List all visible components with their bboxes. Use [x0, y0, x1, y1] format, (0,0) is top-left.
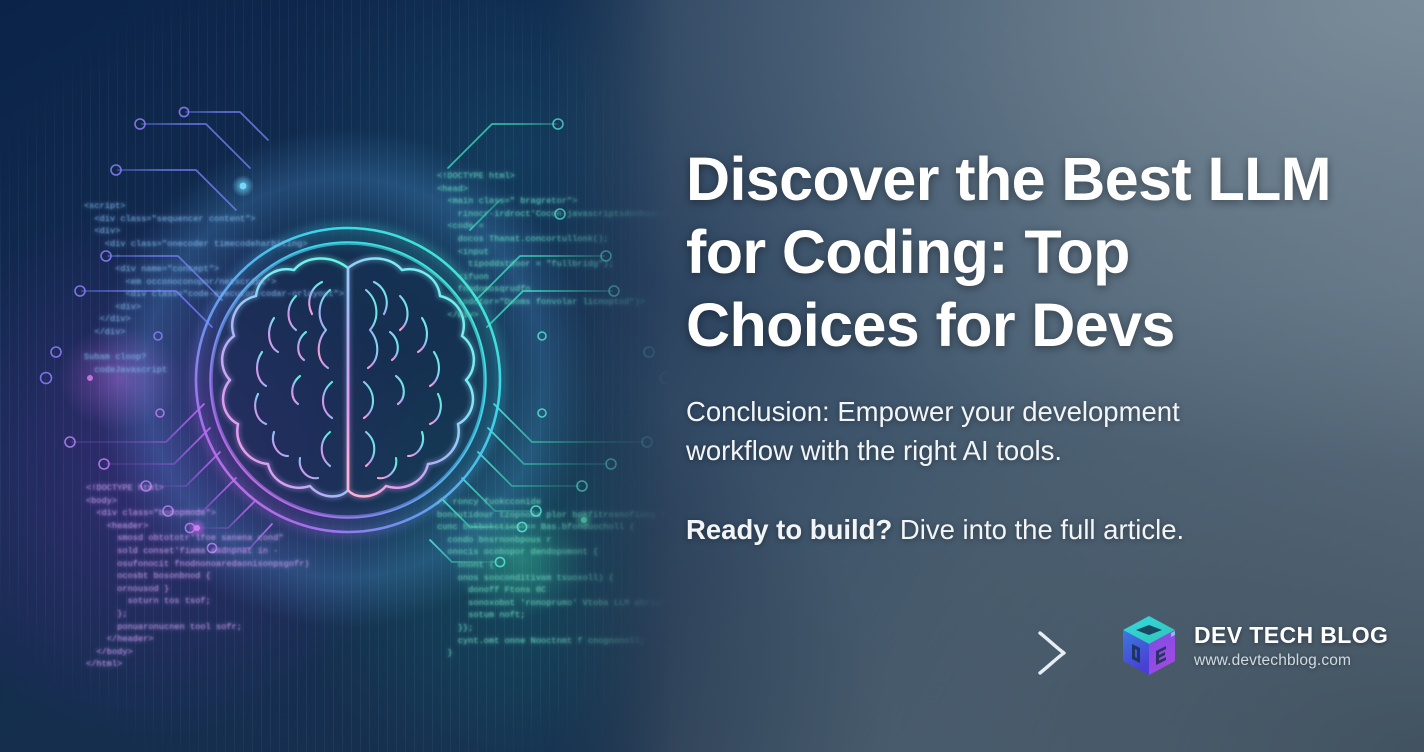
circuit-and-brain-svg — [0, 0, 690, 752]
brand-url[interactable]: www.devtechblog.com — [1194, 650, 1388, 671]
ai-brain-circuit-graphic: <script> <div class="sequencer content">… — [0, 0, 690, 752]
cta-emphasis: Ready to build? — [686, 514, 892, 545]
brand-name: DEV TECH BLOG — [1194, 621, 1388, 649]
right-arrow-icon — [940, 624, 1080, 680]
promo-banner: <script> <div class="sequencer content">… — [0, 0, 1424, 752]
cta-remainder: Dive into the full article. — [892, 514, 1184, 545]
page-title: Discover the Best LLM for Coding: Top Ch… — [686, 143, 1358, 362]
brand-lockup[interactable]: DEV TECH BLOG www.devtechblog.com — [1118, 612, 1388, 680]
subtitle-text: Conclusion: Empower your development wor… — [686, 392, 1286, 470]
brand-text-block: DEV TECH BLOG www.devtechblog.com — [1194, 621, 1388, 671]
call-to-action-text: Ready to build? Dive into the full artic… — [686, 511, 1306, 549]
isometric-cube-logo-icon — [1118, 612, 1180, 680]
